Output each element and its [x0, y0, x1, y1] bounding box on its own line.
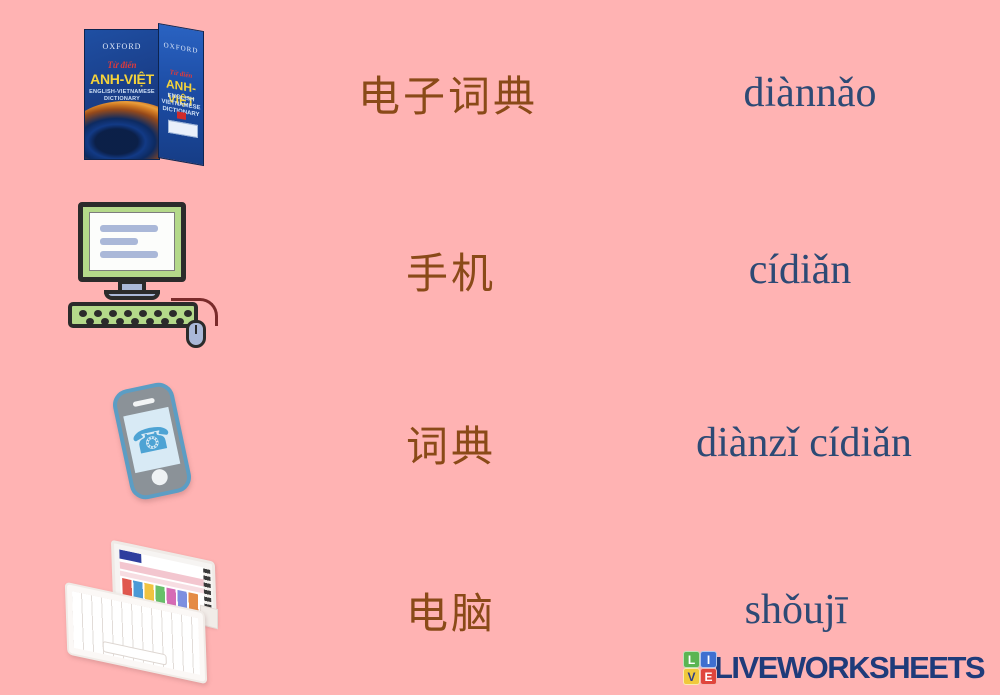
box-swirl-graphic [84, 101, 160, 160]
hanzi-text: 电脑 [406, 580, 496, 641]
monitor-icon [78, 202, 186, 282]
logo-tile-l: L [683, 651, 700, 668]
box-brand-label: OXFORD [85, 42, 159, 51]
hanzi-text: 电子词典 [358, 63, 538, 124]
monitor-stand [104, 290, 160, 300]
box-subtitle-label: ENGLISH-VIETNAMESE DICTIONARY [85, 89, 159, 103]
box-tudien-label: Từ điển [85, 60, 159, 70]
pinyin-cell[interactable]: cídiǎn [600, 185, 990, 355]
screen-text-line [100, 225, 158, 232]
box-front-panel: OXFORD Từ điển ANH-VIỆT ENGLISH-VIETNAME… [84, 29, 160, 160]
mouse-icon [186, 320, 206, 348]
oxford-dictionary-box-image: OXFORD Từ điển ANH-VIỆT ENGLISH-VIETNAME… [80, 23, 208, 163]
hanzi-cell[interactable]: 手机 [330, 185, 590, 355]
phone-screen: ☎ [123, 407, 180, 473]
picture-cell-phone[interactable]: ☎ [40, 358, 260, 528]
desktop-computer-image [66, 202, 234, 338]
logo-tile-e: E [700, 668, 717, 685]
picture-cell-electronic-dictionary[interactable] [40, 525, 260, 695]
hanzi-cell[interactable]: 词典 [330, 358, 590, 528]
worksheet-row: OXFORD Từ điển ANH-VIỆT ENGLISH-VIETNAME… [0, 8, 1000, 178]
logo-tile-i: I [700, 651, 717, 668]
pinyin-cell[interactable]: diànzǐ cídiǎn [600, 358, 994, 528]
box-side-brand-label: OXFORD [159, 40, 203, 56]
pinyin-text: diànnǎo [744, 69, 877, 117]
box-side-panel: OXFORD Từ điển ANH-VIỆT ENGLISH VIETNAME… [158, 23, 204, 166]
pinyin-cell[interactable]: diànnǎo [600, 8, 1000, 178]
mobile-phone-image: ☎ [95, 379, 205, 507]
pinyin-text: diànzǐ cídiǎn [696, 419, 912, 467]
pinyin-text: cídiǎn [749, 246, 852, 294]
liveworksheets-wordmark: LIVEWORKSHEETS [714, 650, 984, 686]
picture-cell-computer[interactable] [40, 185, 260, 355]
worksheet-canvas: OXFORD Từ điển ANH-VIỆT ENGLISH-VIETNAME… [0, 0, 1000, 692]
box-anhviet-label: ANH-VIỆT [85, 71, 159, 87]
phone-handset-icon: ☎ [123, 407, 180, 473]
hanzi-cell[interactable]: 电子词典 [330, 8, 590, 178]
edict-display-header [119, 549, 141, 563]
logo-tile-v: V [683, 668, 700, 685]
electronic-dictionary-image [60, 545, 240, 675]
keyboard-icon [68, 302, 198, 328]
box-side-badge [168, 120, 198, 138]
liveworksheets-watermark: L I V E LIVEWORKSHEETS [683, 648, 1000, 688]
phone-home-button [150, 468, 169, 487]
monitor-screen [89, 212, 175, 271]
screen-text-line [100, 238, 138, 245]
box-side-red-mark [177, 111, 186, 120]
hanzi-text: 手机 [406, 240, 496, 301]
phone-body: ☎ [110, 380, 194, 502]
worksheet-row: ☎ 词典 diànzǐ cídiǎn [0, 358, 1000, 528]
phone-speaker [133, 398, 156, 407]
liveworksheets-logo-icon: L I V E [683, 651, 717, 685]
pinyin-text: shǒujī [745, 586, 848, 634]
picture-cell-dictionary-box[interactable]: OXFORD Từ điển ANH-VIỆT ENGLISH-VIETNAME… [40, 8, 260, 178]
worksheet-row: 手机 cídiǎn [0, 185, 1000, 355]
hanzi-cell[interactable]: 电脑 [330, 525, 590, 695]
screen-text-line [100, 251, 158, 258]
hanzi-text: 词典 [406, 413, 496, 474]
